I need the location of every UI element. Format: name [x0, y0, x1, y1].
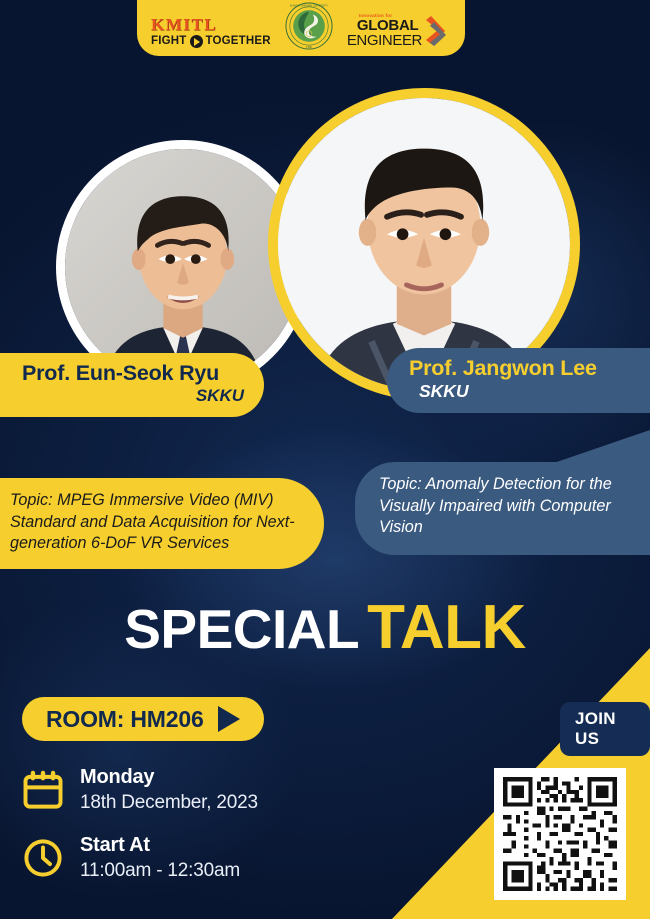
schedule-date-value: 18th December, 2023	[80, 792, 258, 814]
kmitl-tagline: FIGHT TOGETHER	[151, 35, 271, 48]
schedule-date-title: Monday	[80, 766, 258, 790]
speaker-left-topic: Topic: MPEG Immersive Video (MIV) Standa…	[0, 478, 324, 569]
event-poster: KMITL FIGHT TOGETHER SUNGKYUNKWAN UNIVER…	[0, 0, 650, 919]
clock-icon	[22, 837, 64, 879]
room-label: ROOM: HM206	[46, 706, 204, 733]
avatar	[65, 149, 301, 385]
play-triangle-icon	[218, 706, 240, 732]
double-chevron-icon	[425, 14, 451, 48]
global-engineer-logo: Innovation for GLOBAL ENGINEER	[347, 14, 451, 48]
kmitl-tagline-before: FIGHT	[151, 36, 187, 48]
kmitl-logo: KMITL FIGHT TOGETHER	[151, 16, 271, 48]
speaker-right-nameplate: Prof. Jangwon Lee SKKU	[387, 348, 650, 413]
page-title: SPECIALTALK	[0, 592, 650, 663]
calendar-icon	[22, 769, 64, 811]
schedule-info: Monday 18th December, 2023 Start At 11:0…	[22, 766, 258, 902]
schedule-time-text: Start At 11:00am - 12:30am	[80, 834, 240, 882]
speaker-right-org: SKKU	[409, 381, 640, 402]
speaker-right-topic: Topic: Anomaly Detection for the Visuall…	[355, 462, 650, 555]
kmitl-wordmark: KMITL	[151, 16, 271, 33]
schedule-row-time: Start At 11:00am - 12:30am	[22, 834, 258, 882]
svg-text:1398: 1398	[306, 45, 312, 49]
join-us-button[interactable]: JOIN US	[560, 702, 650, 756]
title-word-special: SPECIAL	[124, 598, 359, 660]
schedule-row-date: Monday 18th December, 2023	[22, 766, 258, 814]
room-badge[interactable]: ROOM: HM206	[22, 697, 264, 741]
speaker-right-name: Prof. Jangwon Lee	[409, 357, 640, 380]
schedule-time-value: 11:00am - 12:30am	[80, 860, 240, 882]
global-engineer-text: Innovation for GLOBAL ENGINEER	[347, 14, 422, 48]
svg-text:SUNGKYUNKWAN UNIVERSITY: SUNGKYUNKWAN UNIVERSITY	[290, 3, 329, 7]
speaker-left-name: Prof. Eun-Seok Ryu	[22, 362, 244, 385]
schedule-date-text: Monday 18th December, 2023	[80, 766, 258, 814]
kmitl-tagline-after: TOGETHER	[206, 36, 271, 48]
avatar	[278, 98, 570, 390]
speaker-left-nameplate: Prof. Eun-Seok Ryu SKKU	[0, 353, 264, 417]
speaker-left-org: SKKU	[22, 386, 244, 406]
skku-seal-icon: SUNGKYUNKWAN UNIVERSITY 1398	[285, 2, 333, 50]
qr-code-icon	[499, 773, 621, 895]
global-engineer-line2: ENGINEER	[347, 34, 422, 48]
qr-code[interactable]	[494, 768, 626, 900]
play-circle-icon	[190, 35, 203, 48]
header-logo-bar: KMITL FIGHT TOGETHER SUNGKYUNKWAN UNIVER…	[137, 0, 465, 56]
schedule-time-title: Start At	[80, 834, 240, 858]
title-word-talk: TALK	[367, 593, 526, 662]
